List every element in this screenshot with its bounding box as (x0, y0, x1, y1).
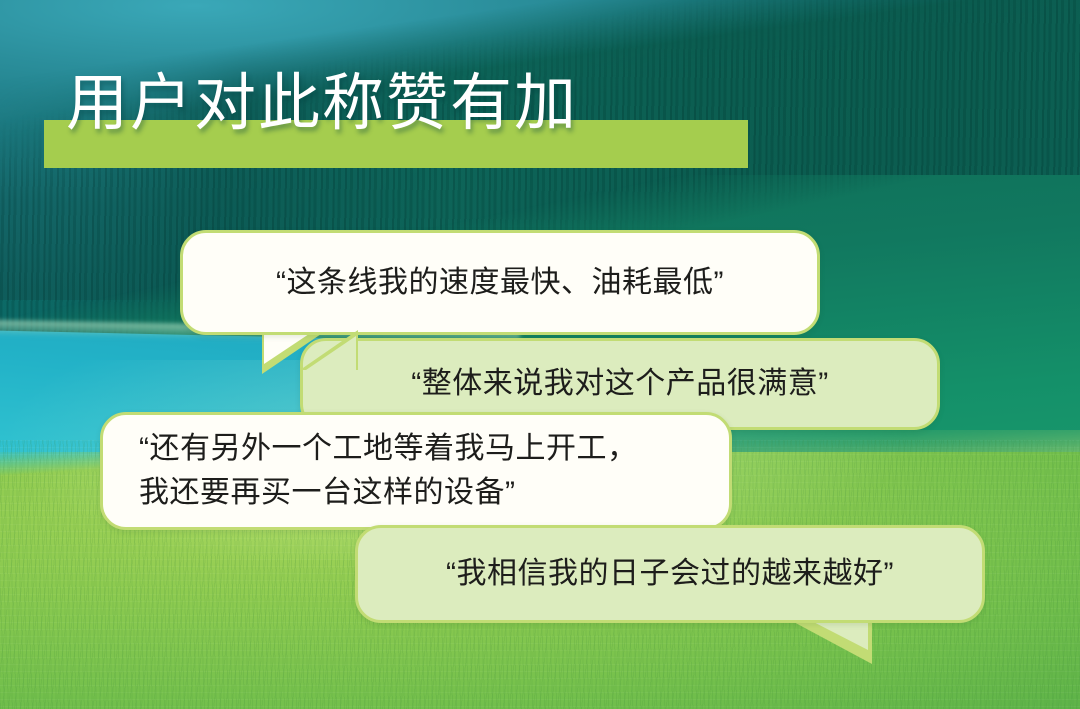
page-title: 用户对此称赞有加 (44, 66, 804, 176)
poster-canvas: 用户对此称赞有加 “这条线我的速度最快、油耗最低” “整体来说我对这个产品很满意… (0, 0, 1080, 709)
testimonial-bubble-1[interactable]: “这条线我的速度最快、油耗最低” (180, 230, 820, 335)
testimonial-text-2: “整体来说我对这个产品很满意” (303, 362, 937, 406)
testimonial-bubble-3[interactable]: “还有另外一个工地等着我马上开工， 我还要再买一台这样的设备” (100, 412, 732, 530)
testimonial-text-3: “还有另外一个工地等着我马上开工， 我还要再买一台这样的设备” (103, 427, 729, 515)
speech-tail-2-fill (306, 336, 356, 370)
testimonial-text-4: “我相信我的日子会过的越来越好” (358, 552, 982, 596)
testimonial-bubble-4[interactable]: “我相信我的日子会过的越来越好” (355, 525, 985, 623)
testimonial-text-1: “这条线我的速度最快、油耗最低” (183, 261, 817, 305)
title-text: 用户对此称赞有加 (66, 66, 578, 142)
